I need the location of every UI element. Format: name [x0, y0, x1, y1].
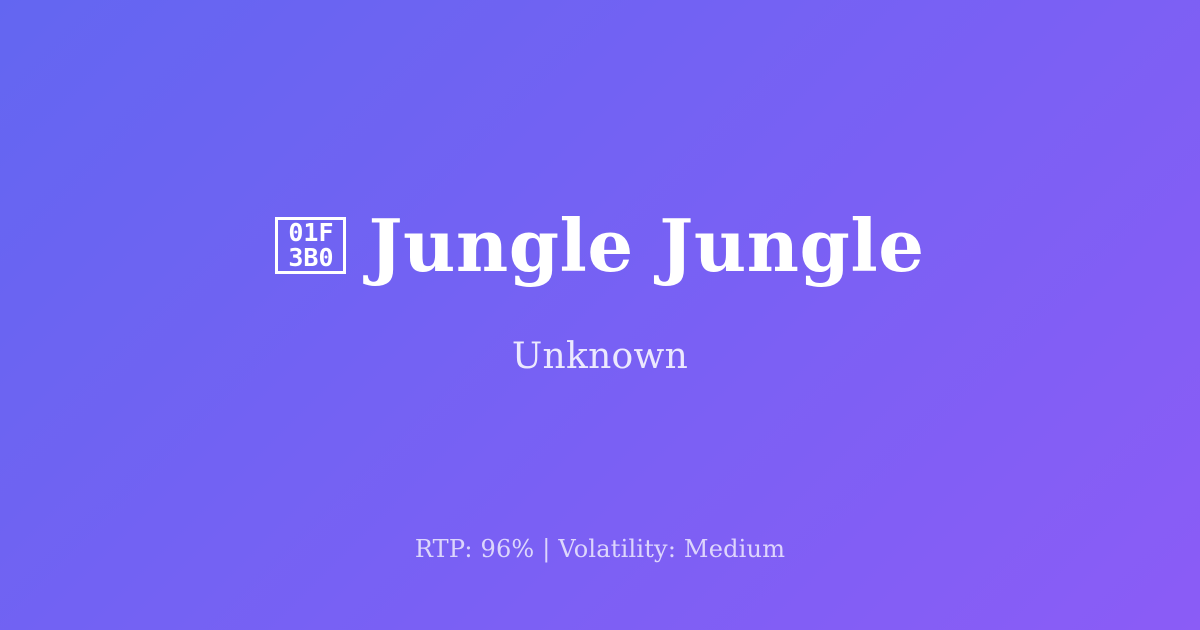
hero-group: 01F 3B0 Jungle Jungle Unknown — [275, 208, 924, 379]
slot-machine-emoji-icon: 01F 3B0 — [275, 217, 346, 274]
og-card: 01F 3B0 Jungle Jungle Unknown RTP: 96% |… — [0, 0, 1200, 630]
game-provider-subtitle: Unknown — [512, 335, 688, 378]
game-meta-stats: RTP: 96% | Volatility: Medium — [0, 535, 1200, 564]
title-row: 01F 3B0 Jungle Jungle — [275, 208, 924, 284]
page-title: Jungle Jungle — [368, 208, 924, 284]
codepoint-top: 01F — [288, 220, 333, 245]
codepoint-bottom: 3B0 — [288, 245, 333, 270]
